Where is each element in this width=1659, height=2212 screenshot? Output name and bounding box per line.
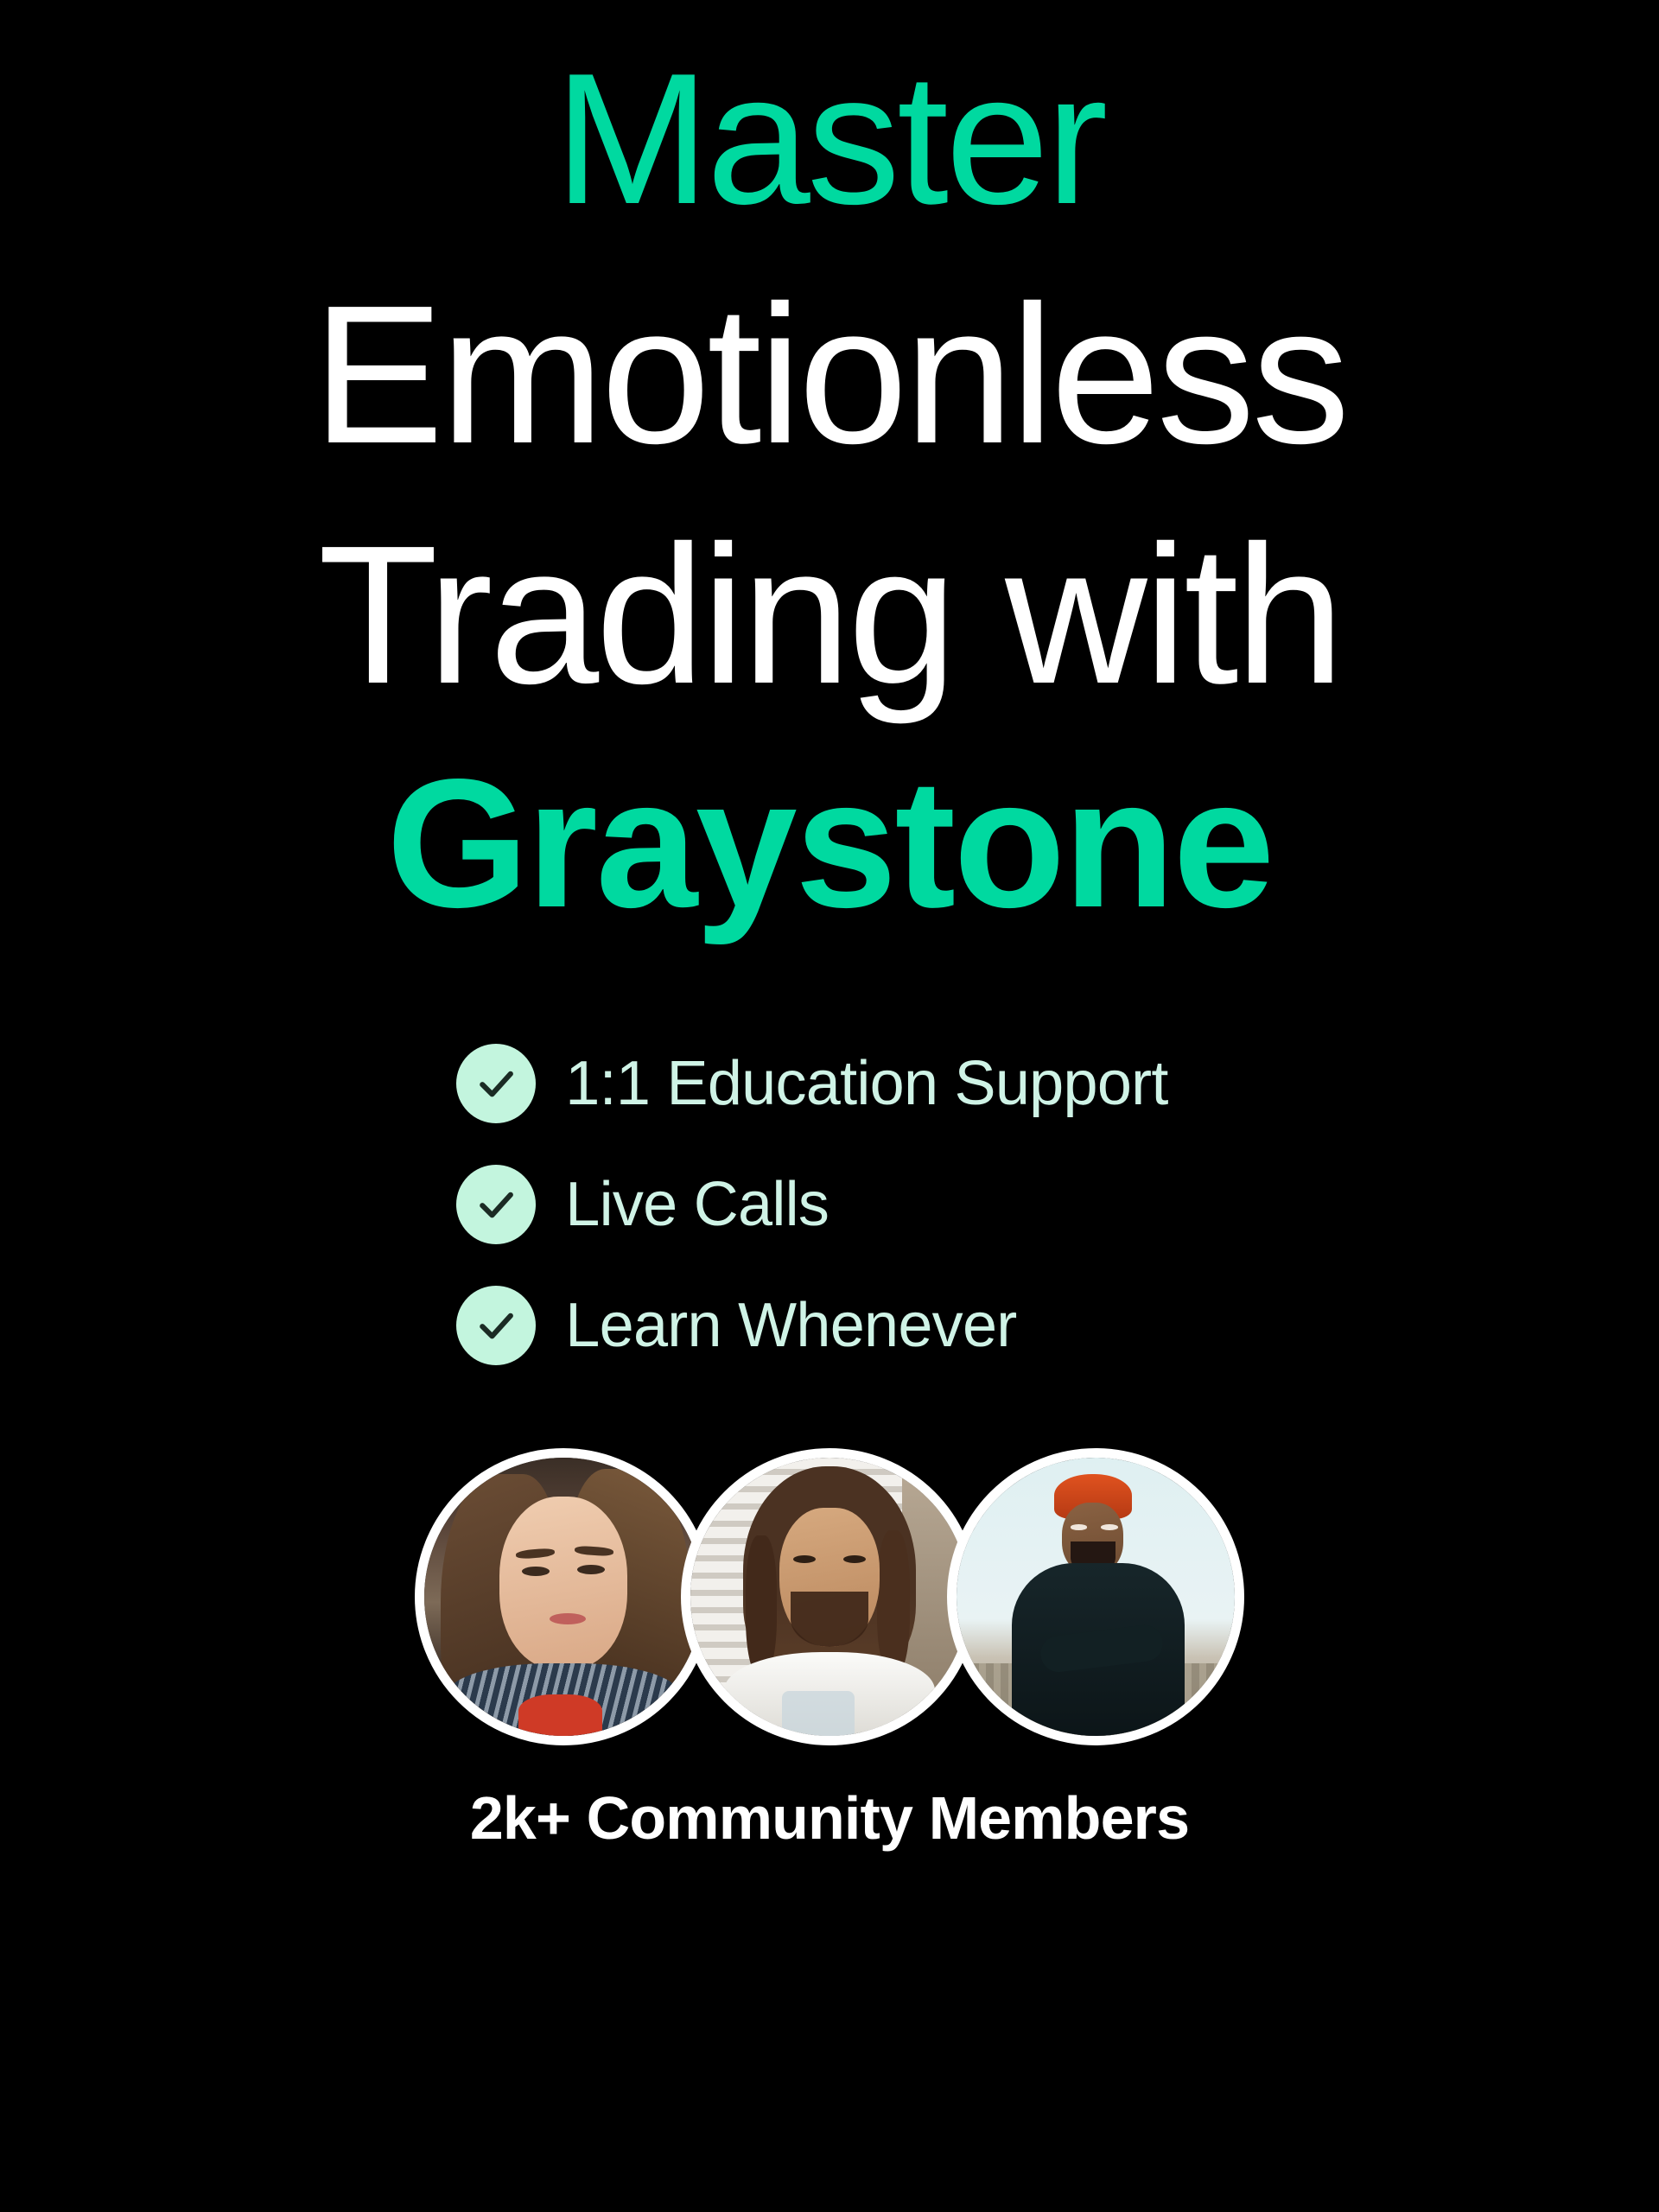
avatar bbox=[947, 1448, 1244, 1745]
headline-line-emotionless: Emotionless bbox=[0, 276, 1659, 474]
avatar-woman-long-hair bbox=[424, 1458, 702, 1736]
feature-label: 1:1 Education Support bbox=[565, 1048, 1167, 1119]
feature-item-live-calls: Live Calls bbox=[456, 1165, 1167, 1244]
headline-block: Master Emotionless Trading with Grayston… bbox=[0, 0, 1659, 935]
avatar bbox=[681, 1448, 978, 1745]
feature-label: Learn Whenever bbox=[565, 1290, 1016, 1361]
community-members-caption: 2k+ Community Members bbox=[470, 1783, 1189, 1853]
check-circle-icon bbox=[456, 1044, 536, 1123]
feature-list: 1:1 Education Support Live Calls Learn W… bbox=[456, 1044, 1167, 1365]
check-circle-icon bbox=[456, 1286, 536, 1365]
feature-item-learn-whenever: Learn Whenever bbox=[456, 1286, 1167, 1365]
check-circle-icon bbox=[456, 1165, 536, 1244]
avatar-man-dreadlocks bbox=[690, 1458, 969, 1736]
community-avatar-group bbox=[415, 1448, 1244, 1745]
headline-line-trading-with: Trading with bbox=[0, 517, 1659, 714]
headline-brand-graystone: Graystone bbox=[0, 752, 1659, 935]
promo-poster: Master Emotionless Trading with Grayston… bbox=[0, 0, 1659, 2212]
avatar bbox=[415, 1448, 712, 1745]
feature-label: Live Calls bbox=[565, 1169, 829, 1240]
feature-item-education-support: 1:1 Education Support bbox=[456, 1044, 1167, 1123]
avatar-man-red-beanie bbox=[957, 1458, 1235, 1736]
headline-line-master: Master bbox=[0, 45, 1659, 232]
